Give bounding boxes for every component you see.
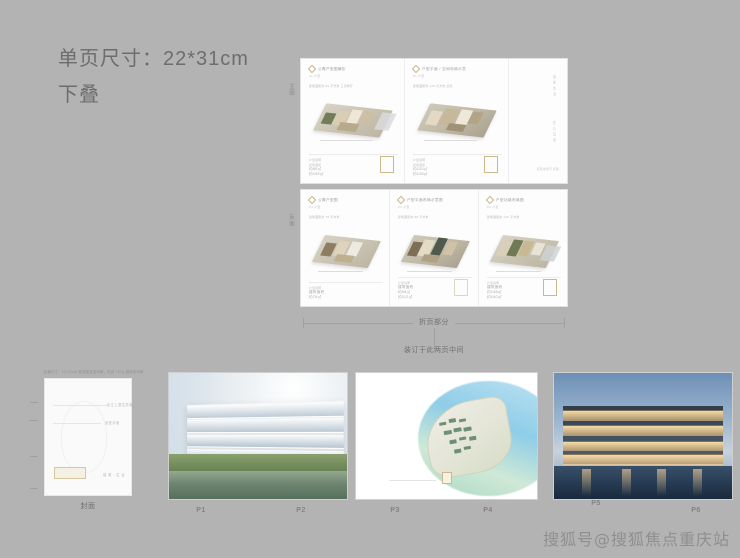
- page-a1-subtitle: A1 户型: [309, 74, 398, 78]
- divider: [487, 277, 561, 278]
- page-a1-header: 公寓户型图解析: [309, 66, 398, 72]
- cover-subtitle-line: 品鉴手册: [105, 420, 120, 425]
- thumbnail-p5-p6-render[interactable]: [553, 372, 733, 500]
- page-a1-footer: 户型说明 建筑面积 约89㎡ 约105㎡: [309, 154, 398, 177]
- thumbnail-label-p5: P5: [563, 500, 629, 507]
- page-b1-seal-badge: [484, 156, 498, 173]
- page-d1-header: 户型功能布局图: [487, 197, 561, 203]
- page-c2-header: 户型平面布局示意图: [398, 197, 472, 203]
- fold-note: 装订于此两页中间: [404, 345, 464, 355]
- page-c1-footer: 户型说明 建筑面积 约76㎡: [309, 282, 383, 300]
- page-c2-seal-badge: [454, 279, 468, 296]
- brochure-spread: 主图 公寓户型图解析 A1 户型 建筑面积约 89 平方米 三室两厅: [300, 58, 568, 307]
- page-a1-description: 建筑面积约 89 平方米 三室两厅: [309, 84, 398, 88]
- page-c1-subtitle: C1 户型: [309, 205, 383, 209]
- page-c1-description: 建筑面积约 76 平方米: [309, 215, 383, 219]
- lit-window-band: [563, 425, 723, 435]
- cover-note: 封面尺寸：22*31cm 覆哑膜烫金印刷，内页 157g 铜版纸印刷: [44, 369, 144, 374]
- reflecting-pool: [554, 466, 732, 499]
- fold-bracket: 折页部分: [303, 318, 565, 328]
- page-c1-footer-line: 约76㎡: [309, 295, 383, 300]
- spread-page-a1[interactable]: 公寓户型图解析 A1 户型 建筑面积约 89 平方米 三室两厅: [301, 59, 405, 183]
- page-a1-title: 公寓户型图解析: [318, 67, 346, 72]
- page-b1-footer: 户型说明 建筑面积 约120㎡ 约138㎡: [413, 154, 502, 177]
- site-building-block: [449, 439, 457, 444]
- water-reflection: [622, 469, 631, 497]
- building-floor-band: [187, 418, 344, 433]
- spread-sheet-row-2[interactable]: 反面 公寓户型图 C1 户型 建筑面积约 76 平方米: [300, 189, 568, 307]
- page-d1-seal-badge: [543, 279, 557, 296]
- spread-row-1-side-caption: 主图: [287, 83, 295, 96]
- page-d1-footer: 户型说明 建筑面积 约145㎡ 约160㎡: [487, 277, 561, 300]
- page-c1-title: 公寓户型图: [318, 198, 338, 203]
- diamond-bullet-icon: [486, 196, 494, 204]
- page-b1-subtitle: B1 户型: [413, 74, 502, 78]
- spread-row-2-side-caption: 反面: [287, 214, 295, 227]
- page-b1-description: 建筑面积约 120 平方米 四室: [413, 84, 502, 88]
- site-building-block: [469, 436, 477, 441]
- diamond-bullet-icon: [308, 196, 316, 204]
- cover-title-line: 长江上游生态城: [107, 402, 133, 407]
- thumbnail-p3-p4-siteplan[interactable]: ······· · · · ·: [355, 372, 538, 500]
- rail-tick: [30, 488, 38, 489]
- spread-vertical-text-2: 匠心营造: [551, 121, 557, 144]
- page-c1-floorplan-3d: [314, 228, 378, 274]
- water-reflection: [582, 469, 591, 497]
- page-b1-header: 户型平面 / 空间布局示意: [413, 66, 502, 72]
- page-c2-title: 户型平面布局示意图: [407, 198, 443, 203]
- page-a1-seal-badge: [380, 156, 394, 173]
- page-c2-footer: 户型说明 建筑面积 约98㎡ 约112㎡: [398, 277, 472, 300]
- building-mass: [563, 406, 723, 464]
- rail-tick: [30, 420, 38, 421]
- bracket-tick-left: [303, 318, 304, 328]
- site-building-block: [464, 427, 472, 432]
- site-building-block: [439, 421, 447, 426]
- page-d1-subtitle: D1 户型: [487, 205, 561, 209]
- spread-vertical-text-1: 品质生活: [551, 75, 557, 98]
- fold-bracket-label: 折页部分: [413, 318, 455, 328]
- watermark: 搜狐号@搜狐焦点重庆站: [543, 526, 730, 550]
- page-d1-title: 户型功能布局图: [496, 198, 524, 203]
- siteplan-legend-rule: [389, 480, 436, 481]
- page-d1-floorplan-3d: [492, 228, 556, 274]
- site-building-block: [449, 418, 457, 423]
- site-building-block: [459, 436, 467, 441]
- water-reflection: [657, 469, 666, 497]
- page-c2-floorplan-3d: [403, 228, 467, 274]
- floorplan-dimension-line: [407, 271, 452, 272]
- bracket-tick-right: [564, 318, 565, 328]
- spread-page-sidebar[interactable]: 品质生活 匠心营造 项目效果示意图: [509, 59, 567, 183]
- cover-watermark-shape: [61, 401, 107, 473]
- floorplan-dimension-line: [496, 271, 541, 272]
- spread-page-d1[interactable]: 户型功能布局图 D1 户型 建筑面积约 145 平方米: [479, 190, 567, 306]
- diamond-bullet-icon: [397, 196, 405, 204]
- page-c2-description: 建筑面积约 98 平方米: [398, 215, 472, 219]
- thumbnail-label-p4: P4: [455, 507, 521, 514]
- lit-window-band: [563, 410, 723, 420]
- building-floor-band: [187, 402, 344, 419]
- thumbnail-label-p2: P2: [268, 507, 334, 514]
- rail-tick: [30, 456, 38, 457]
- thumbnail-label-cover: 封面: [44, 501, 132, 511]
- floorplan-dimension-line: [320, 140, 374, 141]
- site-building-block: [454, 427, 462, 432]
- page-c2-subtitle: C2 户型: [398, 205, 472, 209]
- floorplan-dimension-line: [318, 271, 363, 272]
- page-b1-floorplan-3d: [419, 97, 496, 143]
- thumbnail-label-p6: P6: [663, 507, 729, 514]
- site-building-block: [459, 417, 467, 422]
- thumbnail-cover[interactable]: 长江上游生态城 品鉴手册 建 筑 · 生 活: [44, 378, 132, 496]
- diamond-bullet-icon: [308, 65, 316, 73]
- cover-tick-rail: [30, 378, 42, 496]
- page-a1-floorplan-3d: [315, 97, 392, 143]
- site-building-block: [444, 430, 452, 435]
- spread-page-c2[interactable]: 户型平面布局示意图 C2 户型 建筑面积约 98 平方米: [390, 190, 479, 306]
- page-c1-header: 公寓户型图: [309, 197, 383, 203]
- lit-window-band: [563, 454, 723, 464]
- site-building-block: [454, 448, 462, 453]
- siteplan-caption: · · · ·: [440, 487, 454, 491]
- floorplan-dimension-line: [424, 140, 478, 141]
- rail-tick: [30, 402, 38, 403]
- spread-page-c1[interactable]: 公寓户型图 C1 户型 建筑面积约 76 平方米 户型说明: [301, 190, 390, 306]
- divider: [309, 282, 383, 283]
- thumbnail-label-p1: P1: [168, 507, 234, 514]
- thumbnail-label-p3: P3: [362, 507, 428, 514]
- page-b1-title: 户型平面 / 空间布局示意: [422, 67, 466, 72]
- spread-page-b1[interactable]: 户型平面 / 空间布局示意 B1 户型 建筑面积约 120 平方米 四室: [405, 59, 509, 183]
- page-d1-description: 建筑面积约 145 平方米: [487, 215, 561, 219]
- building-floor-band: [187, 435, 344, 450]
- site-building-block: [464, 445, 472, 450]
- cover-rule: [53, 405, 109, 406]
- siteplan-vertical-text: ·······: [396, 398, 400, 443]
- spread-right-note: 项目效果示意图: [537, 167, 559, 171]
- diamond-bullet-icon: [412, 65, 420, 73]
- siteplan-seal-icon: [442, 472, 452, 484]
- lit-window-band: [563, 441, 723, 451]
- divider: [398, 277, 472, 278]
- water-reflection: [693, 469, 702, 497]
- screenshot-root: 单页尺寸：22*31cm 下叠 主图 公寓户型图解析 A1 户型 建筑面积约 8…: [0, 0, 740, 558]
- spread-sheet-row-1[interactable]: 主图 公寓户型图解析 A1 户型 建筑面积约 89 平方米 三室两厅: [300, 58, 568, 184]
- water-feature: [169, 471, 347, 499]
- thumbnail-p1-p2-render[interactable]: [168, 372, 348, 500]
- cover-logo-box: [54, 467, 86, 479]
- cover-rule: [53, 423, 101, 424]
- cover-corner-text: 建 筑 · 生 活: [103, 472, 125, 477]
